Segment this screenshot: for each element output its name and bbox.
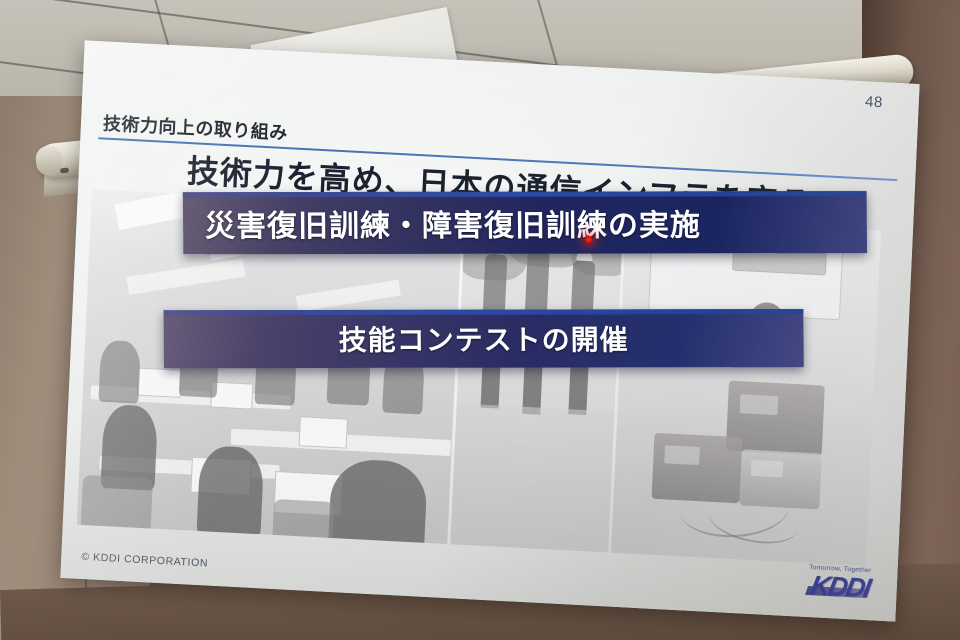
banner-label: 災害復旧訓練・障害復旧訓練の実施 xyxy=(205,200,701,245)
banner-label: 技能コンテストの開催 xyxy=(339,318,629,359)
page-number: 48 xyxy=(865,93,883,111)
banner-edge xyxy=(164,309,804,315)
kddi-logo: Tomorrow, Together KDDI xyxy=(808,564,872,602)
banner-disaster-recovery-training: 災害復旧訓練・障害復旧訓練の実施 xyxy=(183,191,867,254)
banner-edge xyxy=(183,191,867,197)
photo-recovery-equipment xyxy=(611,217,881,566)
logo-wordmark: KDDI xyxy=(806,572,873,602)
projection-screen: 48 技術力向上の取り組み 技術力を高め、日本の通信インフラを守る 災害復旧訓練… xyxy=(60,40,919,621)
banner-skills-contest: 技能コンテストの開催 xyxy=(164,309,804,368)
photo-field-workers xyxy=(451,209,624,553)
room-scene: 48 技術力向上の取り組み 技術力を高め、日本の通信インフラを守る 災害復旧訓練… xyxy=(0,0,960,640)
